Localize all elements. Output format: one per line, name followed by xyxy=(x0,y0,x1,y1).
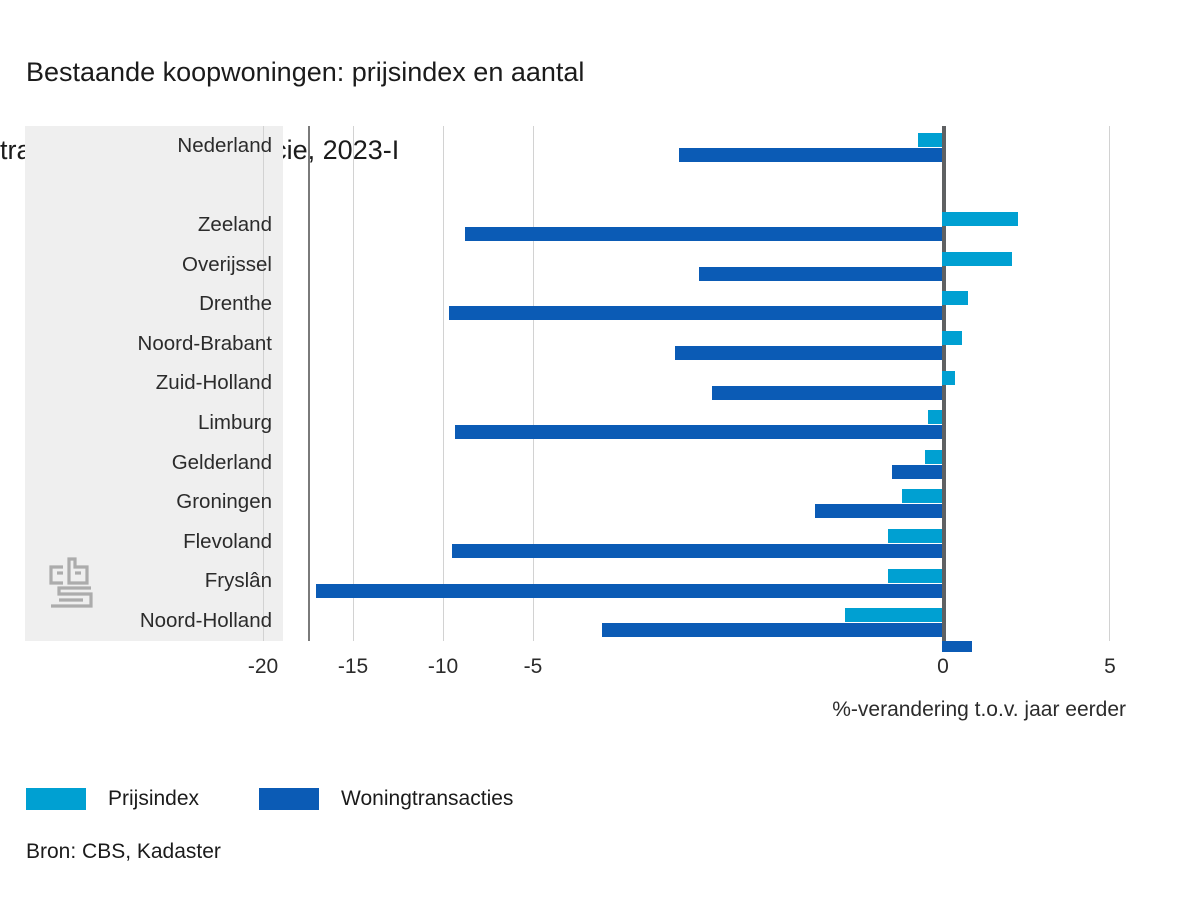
x-tick-0: 0 xyxy=(937,655,949,679)
bar-prijsindex-noord-brabant xyxy=(942,331,962,345)
bar-woningtransacties-limburg xyxy=(455,425,941,439)
bar-prijsindex-limburg xyxy=(928,410,941,424)
bar-prijsindex-overijssel xyxy=(942,252,1012,266)
table-row: Fryslân xyxy=(25,562,1175,602)
x-tick--15: -15 xyxy=(338,655,368,679)
bar-woningtransacties-zeeland xyxy=(465,227,941,241)
table-row: Limburg xyxy=(25,403,1175,443)
bar-woningtransacties-zuid-holland xyxy=(712,386,942,400)
bar-woningtransacties-nederland xyxy=(679,148,942,162)
chart-page: Bestaande koopwoningen: prijsindex en aa… xyxy=(0,0,1200,900)
bar-woningtransacties-groningen xyxy=(815,504,942,518)
bar-woningtransacties-flevoland xyxy=(452,544,942,558)
table-row: Overijssel xyxy=(25,245,1175,285)
x-axis-title: %-verandering t.o.v. jaar eerder xyxy=(0,698,1151,722)
bar-prijsindex-gelderland xyxy=(925,450,942,464)
bar-prijsindex-noord-holland xyxy=(845,608,942,622)
x-tick--5: -5 xyxy=(524,655,543,679)
table-row: Zuid-Holland xyxy=(25,364,1175,404)
x-tick--10: -10 xyxy=(428,655,458,679)
plot-area: Nederland Zeeland Overijssel Drenthe xyxy=(25,126,1175,641)
table-row: Gelderland xyxy=(25,443,1175,483)
bar-woningtransacties-overijssel xyxy=(699,267,942,281)
row-label-noord-holland: Noord-Holland xyxy=(140,609,272,633)
row-label-groningen: Groningen xyxy=(176,490,272,514)
bar-prijsindex-flevoland xyxy=(888,529,941,543)
legend-item-woningtransacties: Woningtransacties xyxy=(259,787,513,811)
legend-item-prijsindex: Prijsindex xyxy=(26,787,199,811)
legend-label-woningtransacties: Woningtransacties xyxy=(341,787,513,811)
row-label-fryslan: Fryslân xyxy=(205,569,272,593)
chart-legend: Prijsindex Woningtransacties xyxy=(26,786,573,812)
bar-woningtransacties-noord-holland xyxy=(602,623,942,637)
table-row: Noord-Brabant xyxy=(25,324,1175,364)
bar-prijsindex-zeeland xyxy=(942,212,1019,226)
row-label-noord-brabant: Noord-Brabant xyxy=(138,332,272,356)
row-label-drenthe: Drenthe xyxy=(199,292,272,316)
row-label-overijssel: Overijssel xyxy=(182,253,272,277)
row-label-zeeland: Zeeland xyxy=(198,213,272,237)
legend-label-prijsindex: Prijsindex xyxy=(108,787,199,811)
row-label-flevoland: Flevoland xyxy=(183,530,272,554)
legend-swatch-woningtransacties xyxy=(259,788,319,810)
table-row: Nederland xyxy=(25,126,1175,166)
bar-woningtransacties-drenthe xyxy=(449,306,942,320)
x-tick--20: -20 xyxy=(248,655,278,679)
bar-prijsindex-fryslan xyxy=(888,569,941,583)
page-title-line1: Bestaande koopwoningen: prijsindex en aa… xyxy=(0,53,1100,92)
bar-prijsindex-zuid-holland xyxy=(942,371,955,385)
table-row-spacer xyxy=(25,166,1175,206)
source-note: Bron: CBS, Kadaster xyxy=(26,840,221,864)
row-label-nederland: Nederland xyxy=(177,134,272,158)
bar-prijsindex-groningen xyxy=(902,489,942,503)
table-row: Zeeland xyxy=(25,205,1175,245)
row-label-gelderland: Gelderland xyxy=(172,451,272,475)
table-row: Flevoland xyxy=(25,522,1175,562)
table-row: Drenthe xyxy=(25,284,1175,324)
x-tick-5: 5 xyxy=(1104,655,1116,679)
bar-prijsindex-nederland xyxy=(918,133,941,147)
bar-woningtransacties-fryslan xyxy=(316,584,942,598)
bar-prijsindex-drenthe xyxy=(942,291,969,305)
row-label-limburg: Limburg xyxy=(198,411,272,435)
table-row: Noord-Holland xyxy=(25,601,1175,641)
row-label-zuid-holland: Zuid-Holland xyxy=(156,371,272,395)
table-row: Groningen xyxy=(25,482,1175,522)
bar-woningtransacties-noord-brabant xyxy=(675,346,942,360)
bar-woningtransacties-gelderland xyxy=(892,465,942,479)
bar-rows: Nederland Zeeland Overijssel Drenthe xyxy=(25,126,1175,641)
x-axis: -20 -15 -10 -5 0 5 xyxy=(25,641,1175,687)
legend-swatch-prijsindex xyxy=(26,788,86,810)
